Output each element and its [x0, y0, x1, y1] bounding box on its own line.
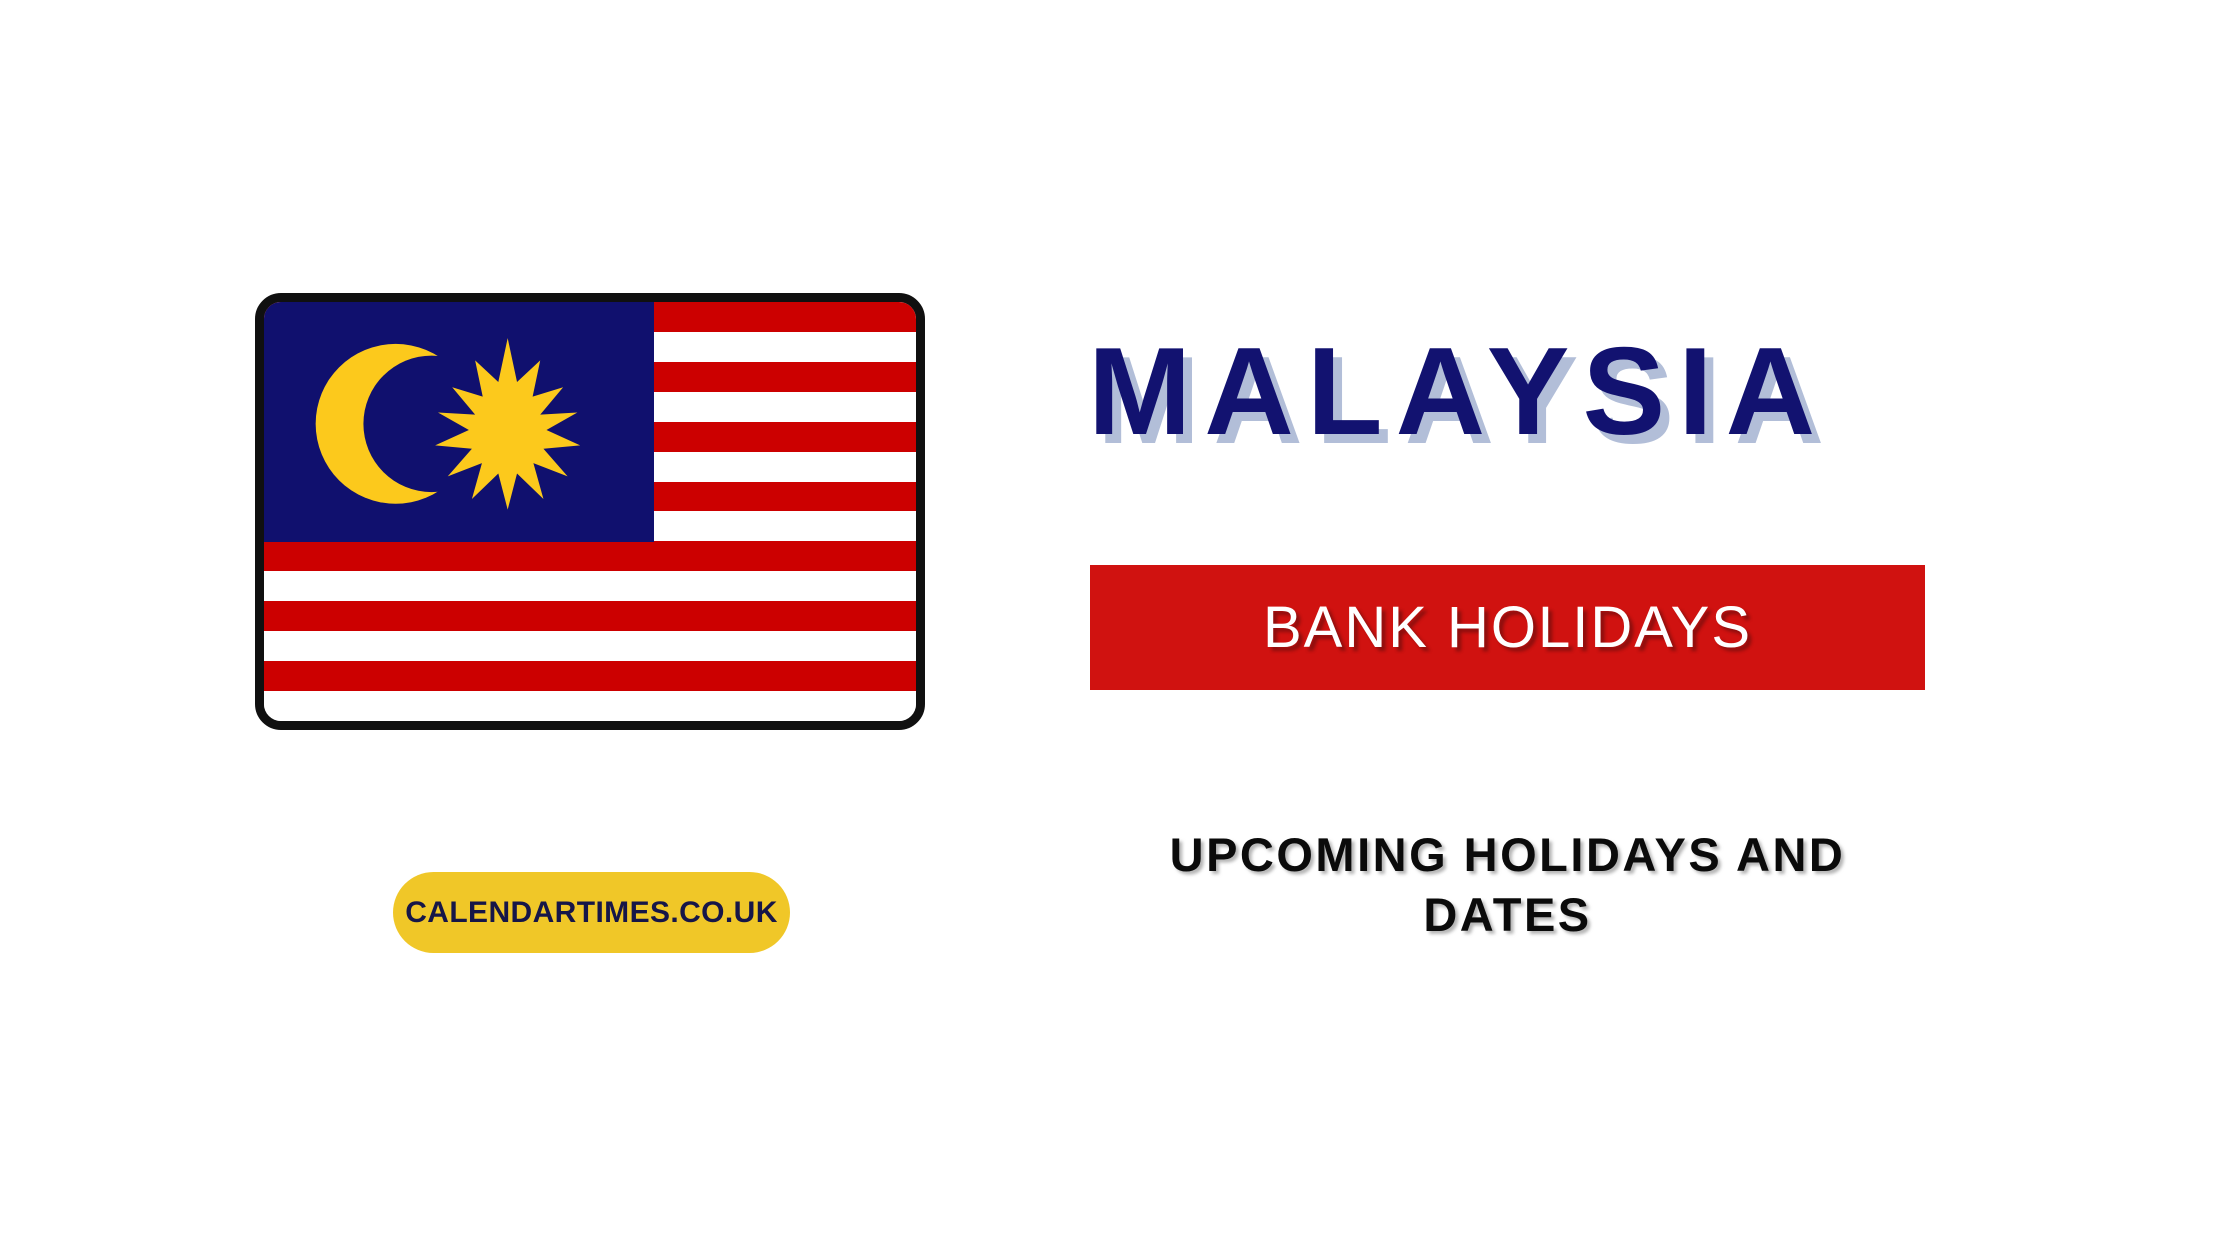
- flag-stripe: [264, 541, 916, 571]
- poster-canvas: CALENDARTIMES.CO.UK MALAYSIA BANK HOLIDA…: [0, 0, 2240, 1260]
- flag-stripe: [264, 661, 916, 691]
- flag-stripe: [264, 631, 916, 661]
- flag-stripe: [264, 691, 916, 721]
- website-badge-label: CALENDARTIMES.CO.UK: [405, 896, 778, 930]
- flag-emblem: [264, 302, 654, 546]
- flag-stripe: [264, 571, 916, 601]
- bank-holidays-banner-label: BANK HOLIDAYS: [1263, 594, 1752, 661]
- flag-stripe: [264, 601, 916, 631]
- flag-canton: [264, 302, 654, 542]
- bank-holidays-banner: BANK HOLIDAYS: [1090, 565, 1925, 690]
- flag-frame: [255, 293, 925, 730]
- website-badge[interactable]: CALENDARTIMES.CO.UK: [393, 872, 790, 953]
- page-title: MALAYSIA: [1088, 330, 1828, 454]
- page-subtitle: UPCOMING HOLIDAYS AND DATES: [1090, 825, 1925, 945]
- malaysia-flag: [255, 293, 925, 730]
